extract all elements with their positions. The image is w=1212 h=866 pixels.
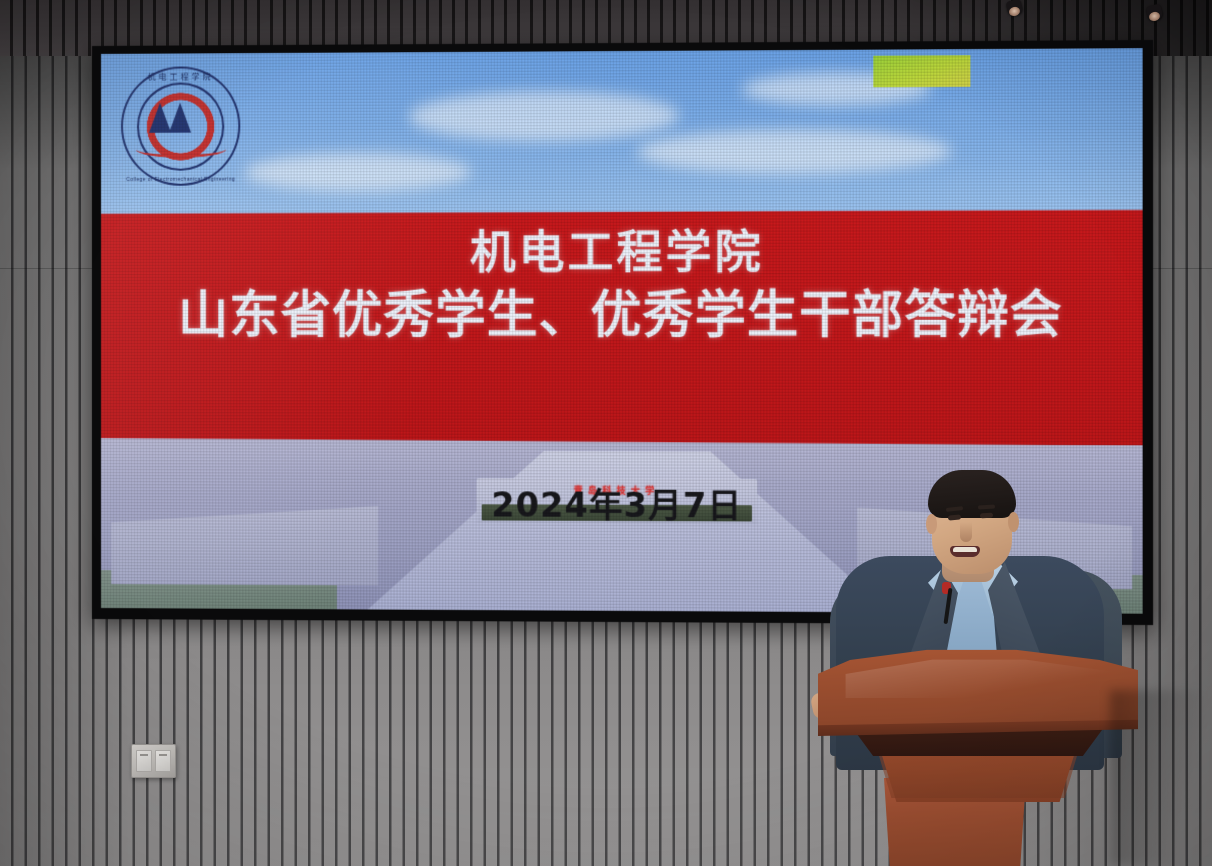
- slide-title-block: 机电工程学院 山东省优秀学生、优秀学生干部答辩会: [101, 225, 1143, 345]
- slide-title-line-1: 机电工程学院: [101, 225, 1143, 281]
- logo-english-text: College of Electromechanical Engineering: [121, 176, 240, 182]
- ceiling-spotlight-icon: [1146, 5, 1163, 27]
- conference-room-scene: 青岛科技大学 机电工程学院 College of Electromechanic…: [0, 0, 1212, 866]
- ceiling-spotlight-icon: [1006, 0, 1023, 22]
- college-seal-logo: 机电工程学院 College of Electromechanical Engi…: [121, 66, 240, 186]
- podium-shadow: [1110, 690, 1212, 866]
- slide-color-artifact: [873, 55, 970, 87]
- slide-plaza: [368, 451, 889, 613]
- logo-chinese-text: 机电工程学院: [121, 71, 240, 83]
- slide-title-line-2: 山东省优秀学生、优秀学生干部答辩会: [101, 284, 1143, 345]
- wooden-lectern: [818, 648, 1138, 866]
- wall-light-switch[interactable]: [131, 744, 176, 778]
